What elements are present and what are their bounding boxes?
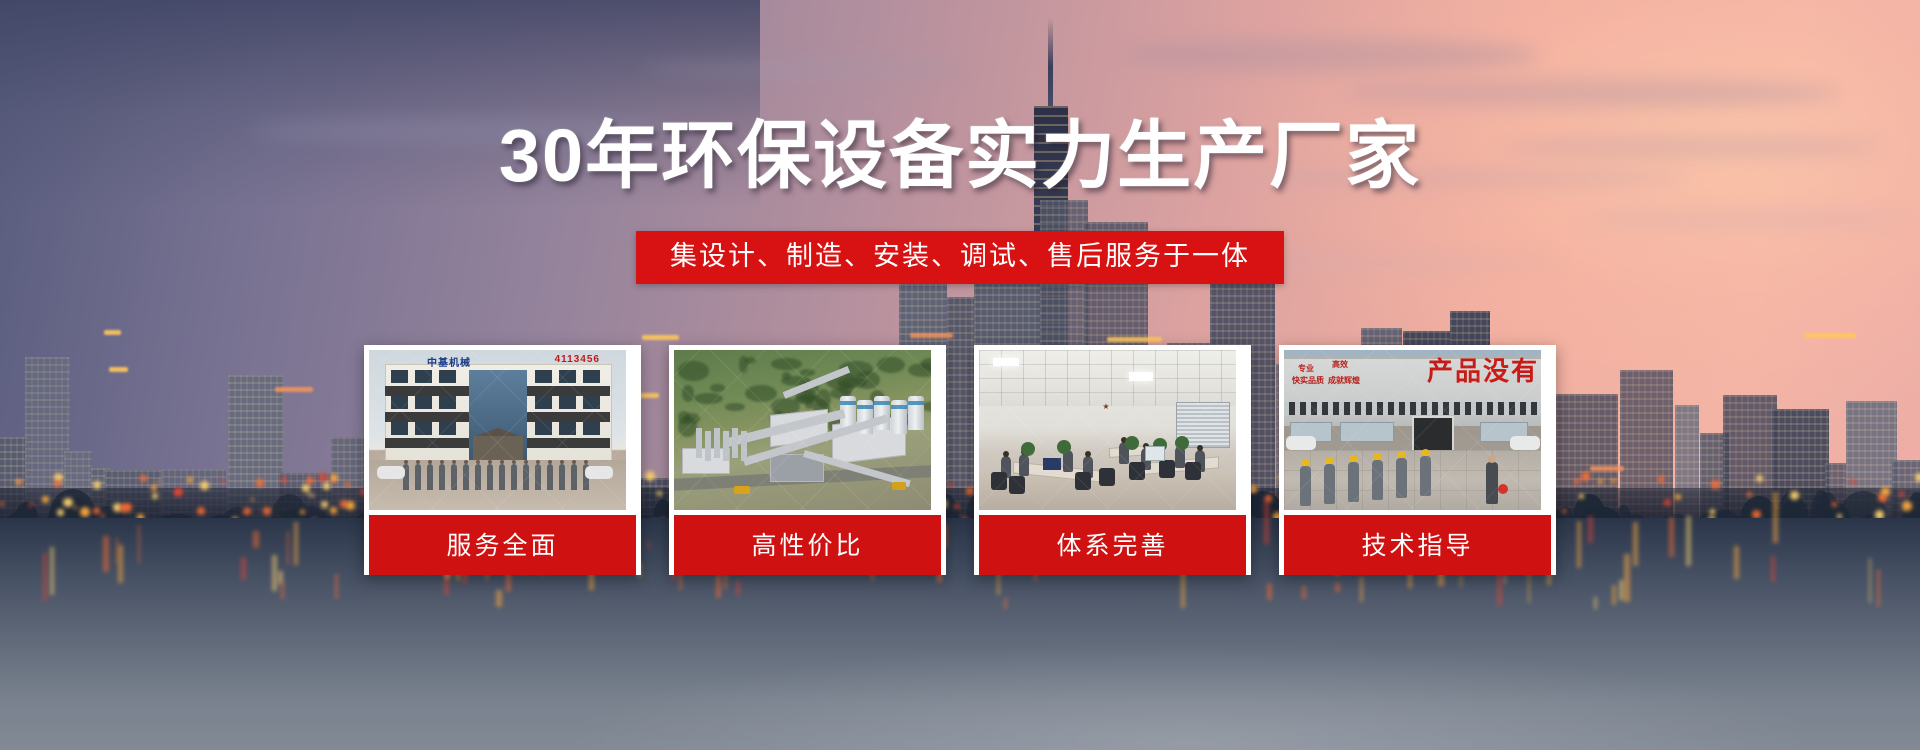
building-window	[391, 396, 408, 409]
plant-stack	[714, 428, 720, 458]
water-reflection	[716, 575, 720, 598]
card-caption-service: 服务全面	[369, 515, 636, 575]
vegetation-patch	[710, 384, 724, 392]
office-chair	[1009, 476, 1025, 494]
water-reflection	[1004, 598, 1008, 609]
staff-person	[415, 464, 421, 490]
storage-silo	[908, 396, 924, 430]
feature-card-guidance[interactable]: 产品没有 专业 高效 快实品质 成就辉煌 技术指导	[1279, 345, 1556, 575]
office-worker	[1019, 454, 1029, 476]
excavator	[892, 482, 906, 490]
feature-card-value[interactable]: 高性价比	[669, 345, 946, 575]
vegetation-patch	[682, 385, 694, 402]
staff-person	[523, 464, 529, 490]
building-window	[415, 422, 432, 435]
water-reflection	[1267, 583, 1272, 601]
rooftop-sign-light	[104, 330, 121, 335]
rooftop-sign-light	[910, 333, 953, 338]
office-chair	[1129, 462, 1145, 480]
vegetation-patch	[877, 357, 904, 373]
building-window	[439, 370, 456, 383]
water-reflection	[1594, 597, 1597, 610]
water-reflection	[496, 590, 502, 608]
feature-card-system[interactable]: ★ 体系完善	[974, 345, 1251, 575]
photo-factory-slogan-small-4: 成就辉煌	[1328, 376, 1360, 385]
plant-stack	[723, 431, 729, 461]
office-chair	[1159, 460, 1175, 478]
parked-car	[585, 466, 613, 479]
staff-person	[559, 464, 565, 490]
staff-person	[451, 464, 457, 490]
water-reflection	[1460, 575, 1462, 587]
photo-phone-number: 4113456	[555, 354, 600, 365]
vegetation-patch	[678, 361, 708, 381]
potted-plant	[1125, 436, 1139, 450]
parked-car	[1510, 436, 1540, 450]
building-window	[415, 370, 432, 383]
laptop	[1043, 458, 1061, 470]
building-window	[583, 370, 600, 383]
worker-in-hard-hat	[1372, 460, 1383, 500]
photo-company-sign: 中基机械	[427, 354, 471, 369]
worker-in-hard-hat	[1348, 462, 1359, 502]
plant-stack	[732, 428, 738, 458]
building-window	[559, 370, 576, 383]
building-window	[415, 396, 432, 409]
potted-plant	[1057, 440, 1071, 454]
water-reflection	[1619, 580, 1624, 599]
building-window	[559, 422, 576, 435]
hero-banner: 30年环保设备实力生产厂家 集设计、制造、安装、调试、售后服务于一体 中基机械 …	[0, 0, 1920, 750]
vegetation-patch	[921, 358, 931, 370]
worker-in-hard-hat	[1396, 458, 1407, 498]
plant-stack	[705, 431, 711, 461]
building-window	[583, 422, 600, 435]
staff-person	[535, 464, 541, 490]
photo-industrial-plant	[674, 350, 931, 510]
card-caption-value: 高性价比	[674, 515, 941, 575]
staff-person	[487, 464, 493, 490]
worker-in-hard-hat	[1420, 456, 1431, 496]
monitor	[1145, 446, 1165, 461]
subtitle-badge: 集设计、制造、安装、调试、售后服务于一体	[636, 231, 1284, 284]
water-reflection	[736, 581, 740, 596]
feature-card-service[interactable]: 中基机械 4113456 服务全面	[364, 345, 641, 575]
supervisor	[1486, 462, 1498, 504]
office-chair	[1075, 472, 1091, 490]
water-reflection	[1360, 577, 1363, 601]
office-chair	[1099, 468, 1115, 486]
feature-card-list: 中基机械 4113456 服务全面 高性价比	[0, 345, 1920, 575]
building-window	[391, 370, 408, 383]
water-reflection	[1335, 583, 1340, 592]
staff-person	[511, 464, 517, 490]
staff-person	[547, 464, 553, 490]
staff-person	[427, 464, 433, 490]
photo-office-interior: ★	[979, 350, 1236, 510]
building-window	[439, 422, 456, 435]
photo-company-building: 中基机械 4113456	[369, 350, 626, 510]
photo-factory-workers: 产品没有 专业 高效 快实品质 成就辉煌	[1284, 350, 1541, 510]
card-caption-system: 体系完善	[979, 515, 1246, 575]
water-reflection	[1528, 570, 1531, 602]
building-window	[439, 396, 456, 409]
page-title: 30年环保设备实力生产厂家	[0, 96, 1920, 203]
staff-person	[499, 464, 505, 490]
subtitle-container: 集设计、制造、安装、调试、售后服务于一体	[0, 231, 1920, 284]
wall-emblem: ★	[1091, 402, 1121, 428]
vegetation-patch	[805, 400, 815, 409]
water-reflection	[335, 574, 338, 599]
staff-person	[475, 464, 481, 490]
card-caption-guidance: 技术指导	[1284, 515, 1551, 575]
building-window	[559, 396, 576, 409]
worker-in-hard-hat	[1300, 466, 1311, 506]
photo-factory-slogan-small-2: 高效	[1332, 360, 1348, 369]
worker-in-hard-hat	[1324, 464, 1335, 504]
staff-person	[439, 464, 445, 490]
photo-factory-slogan: 产品没有	[1427, 358, 1539, 384]
plant-stack	[741, 431, 747, 461]
office-chair	[991, 472, 1007, 490]
water-reflection	[281, 582, 284, 599]
building-window	[535, 396, 552, 409]
vegetation-patch	[745, 357, 756, 364]
water-reflection	[1302, 586, 1307, 600]
office-chair	[1185, 462, 1201, 480]
tv-tower-spire	[1048, 18, 1053, 106]
photo-factory-slogan-small-1: 专业	[1298, 364, 1314, 373]
rooftop-sign-light	[1107, 337, 1162, 342]
parked-car	[1286, 436, 1316, 450]
excavator	[734, 486, 750, 494]
storage-silo	[891, 400, 907, 434]
building-window	[535, 370, 552, 383]
rooftop-sign-light	[1804, 333, 1856, 338]
building-window	[583, 396, 600, 409]
water-reflection	[1612, 585, 1615, 605]
plant-stack	[696, 428, 702, 458]
vegetation-patch	[745, 385, 776, 402]
building-window	[535, 422, 552, 435]
rooftop-sign-light	[642, 335, 679, 340]
staff-person	[463, 464, 469, 490]
potted-plant	[1175, 436, 1189, 450]
potted-plant	[1021, 442, 1035, 456]
staff-person	[571, 464, 577, 490]
building-window	[391, 422, 408, 435]
parked-car	[377, 466, 405, 479]
water-reflection	[1504, 575, 1506, 585]
photo-factory-slogan-small-3: 快实品质	[1292, 376, 1324, 385]
